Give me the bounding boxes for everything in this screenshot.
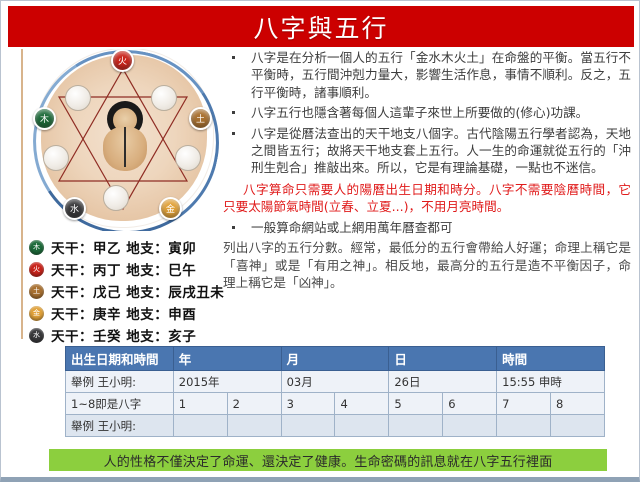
- table-cell: 26日: [389, 371, 497, 393]
- table-cell: [497, 415, 551, 437]
- bullet-item-purple: 一般算命網站或上網用萬年曆查都可: [223, 219, 631, 236]
- meditating-figure-icon: [97, 101, 153, 173]
- table-row: 舉例 王小明:: [66, 415, 605, 437]
- table-cell: [389, 415, 443, 437]
- left-column: 火 土 金 水 木 木 天干：甲乙 地支：寅卯 火 天干：丙丁 地支：巳午 土 …: [21, 49, 221, 339]
- footer-text: 人的性格不僅決定了命運、還決定了健康。生命密碼的訊息就在八字五行裡面: [104, 451, 553, 470]
- legend-text: 天干：庚辛 地支：申酉: [51, 303, 196, 323]
- wuxing-diagram: 火 土 金 水 木: [25, 49, 221, 231]
- table-cell: 7: [497, 393, 551, 415]
- table-row: 舉例 王小明: 2015年 03月 26日 15:55 申時: [66, 371, 605, 393]
- legend-row: 土 天干：戊己 地支：辰戌丑未: [29, 280, 221, 302]
- table-header-cell: 日: [389, 347, 497, 371]
- bullet-list-secondary: 一般算命網站或上網用萬年曆查都可: [223, 219, 631, 236]
- legend-text: 天干：丙丁 地支：巳午: [51, 259, 196, 279]
- legend-row: 水 天干：壬癸 地支：亥子: [29, 324, 221, 346]
- table-cell: [443, 415, 497, 437]
- table-header-cell: 出生日期和時間: [66, 347, 174, 371]
- table-header-cell: 月: [281, 347, 389, 371]
- legend-text: 天干：甲乙 地支：寅卯: [51, 237, 196, 257]
- diagram-inner-icon-2: [151, 85, 177, 111]
- table-cell: [551, 415, 605, 437]
- diagram-node-water: 水: [63, 197, 86, 220]
- table-header-cell: 年: [173, 347, 281, 371]
- table-cell: 2: [227, 393, 281, 415]
- closing-paragraph: 列出八字的五行分數。經常，最低分的五行會帶給人好運；命理上稱它是「喜神」或是「有…: [223, 239, 631, 292]
- legend-row: 木 天干：甲乙 地支：寅卯: [29, 236, 221, 258]
- bullet-item: 八字是在分析一個人的五行「金水木火土」在命盤的平衡。當五行不平衡時，五行間沖剋力…: [223, 49, 631, 101]
- table-row-label: 舉例 王小明:: [66, 415, 174, 437]
- legend-text: 天干：壬癸 地支：亥子: [51, 325, 196, 345]
- diagram-node-metal: 金: [159, 197, 182, 220]
- table-cell: 5: [389, 393, 443, 415]
- bullet-item: 八字五行也隱含著每個人這輩子來世上所要做的(修心)功課。: [223, 104, 631, 121]
- table-cell: 6: [443, 393, 497, 415]
- wood-element-icon: 木: [29, 240, 44, 255]
- table-cell: [227, 415, 281, 437]
- table-row-label: 舉例 王小明:: [66, 371, 174, 393]
- table-cell: 3: [281, 393, 335, 415]
- diagram-inner-icon-3: [175, 145, 201, 171]
- bullet-list: 八字是在分析一個人的五行「金水木火土」在命盤的平衡。當五行不平衡時，五行間沖剋力…: [223, 49, 631, 177]
- fire-element-icon: 火: [29, 262, 44, 277]
- metal-element-icon: 金: [29, 306, 44, 321]
- table-cell: [173, 415, 227, 437]
- earth-element-icon: 土: [29, 284, 44, 299]
- diagram-node-wood: 木: [33, 107, 56, 130]
- table-cell: [281, 415, 335, 437]
- table-cell: 03月: [281, 371, 389, 393]
- red-highlight-paragraph: 八字算命只需要人的陽曆出生日期和時分。八字不需要陰曆時間，它只要太陽節氣時間(立…: [223, 181, 631, 216]
- body-text-column: 八字是在分析一個人的五行「金水木火土」在命盤的平衡。當五行不平衡時，五行間沖剋力…: [223, 49, 631, 341]
- table-cell: 4: [335, 393, 389, 415]
- diagram-node-earth: 土: [189, 107, 212, 130]
- birth-info-table: 出生日期和時間 年 月 日 時間 舉例 王小明: 2015年 03月 26日 1…: [65, 346, 605, 437]
- legend-row: 金 天干：庚辛 地支：申酉: [29, 302, 221, 324]
- title-banner: 八字與五行: [8, 6, 634, 47]
- bullet-item: 八字是從曆法查出的天干地支八個字。古代陰陽五行學者認為，天地之間皆五行；故將天干…: [223, 125, 631, 177]
- slide-canvas: 八字與五行 火 土 金 水 木: [0, 0, 640, 482]
- footer-highlight-bar: 人的性格不僅決定了命運、還決定了健康。生命密碼的訊息就在八字五行裡面: [49, 449, 607, 471]
- diagram-inner-icon-5: [43, 145, 69, 171]
- element-legend: 木 天干：甲乙 地支：寅卯 火 天干：丙丁 地支：巳午 土 天干：戊己 地支：辰…: [29, 236, 221, 346]
- table-cell: 1: [173, 393, 227, 415]
- table-header-cell: 時間: [497, 347, 605, 371]
- table-row-label: 1~8即是八字: [66, 393, 174, 415]
- table-cell: [335, 415, 389, 437]
- table-cell: 2015年: [173, 371, 281, 393]
- table-header-row: 出生日期和時間 年 月 日 時間: [66, 347, 605, 371]
- legend-row: 火 天干：丙丁 地支：巳午: [29, 258, 221, 280]
- diagram-inner-icon-1: [65, 85, 91, 111]
- diagram-inner-icon-4: [103, 185, 129, 211]
- page-title: 八字與五行: [253, 9, 388, 45]
- water-element-icon: 水: [29, 328, 44, 343]
- table-cell: 8: [551, 393, 605, 415]
- diagram-node-fire: 火: [111, 49, 134, 72]
- legend-text: 天干：戊己 地支：辰戌丑未: [51, 281, 224, 301]
- table-cell: 15:55 申時: [497, 371, 605, 393]
- table-row: 1~8即是八字 1 2 3 4 5 6 7 8: [66, 393, 605, 415]
